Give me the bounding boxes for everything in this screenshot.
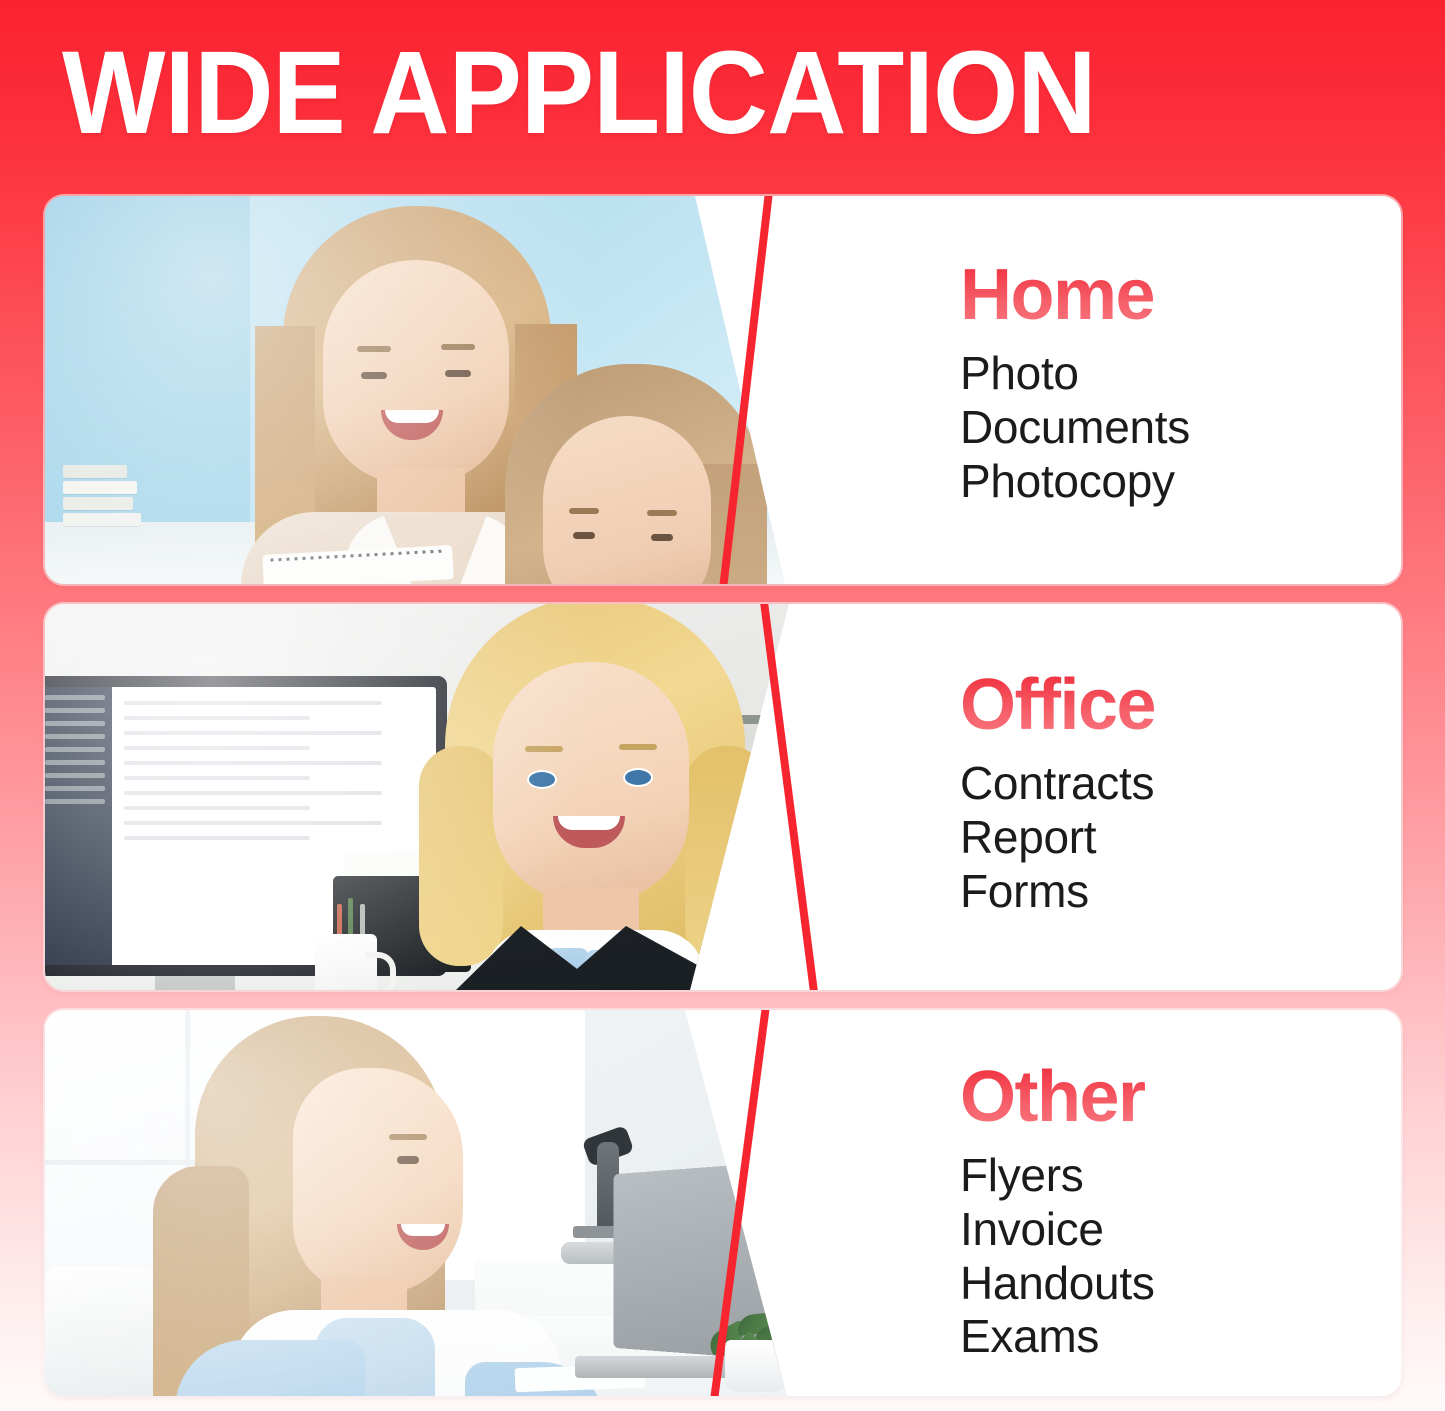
test-tubes — [787, 1260, 805, 1380]
woman-eye — [397, 1156, 419, 1164]
child-brow-right — [647, 510, 677, 516]
woman-brow — [389, 1134, 427, 1140]
text-block-other: Other Flyers Invoice Handouts Exams — [960, 1060, 1155, 1364]
child-face — [543, 416, 711, 584]
adult-brow-right — [441, 344, 475, 350]
adult-brow-left — [357, 346, 391, 352]
poster-root: WIDE APPLICATION — [0, 0, 1445, 1411]
book-stack-icon — [63, 448, 141, 526]
list-item: Exams — [960, 1310, 1155, 1364]
list-item: Handouts — [960, 1257, 1155, 1311]
woman-brow-right — [619, 744, 657, 750]
application-card-home — [45, 196, 1401, 584]
page-title: WIDE APPLICATION — [62, 34, 1096, 152]
woman-face — [493, 662, 689, 902]
photo-other — [45, 1010, 805, 1396]
woman-eye-left — [529, 772, 555, 787]
woman-eye-right — [625, 770, 651, 785]
application-card-office — [45, 604, 1401, 990]
list-item: Flyers — [960, 1149, 1155, 1203]
feature-list-other: Flyers Invoice Handouts Exams — [960, 1149, 1155, 1364]
list-item: Documents — [960, 401, 1190, 455]
feature-list-home: Photo Documents Photocopy — [960, 347, 1190, 508]
list-item: Photo — [960, 347, 1190, 401]
adult-eye-right — [445, 370, 471, 377]
feature-list-office: Contracts Report Forms — [960, 757, 1155, 918]
adult-eye-left — [361, 372, 387, 379]
adult-face — [323, 260, 509, 484]
scene-home-tutoring — [45, 196, 805, 584]
scene-laboratory — [45, 1010, 805, 1396]
monitor-stand — [155, 976, 235, 990]
lab-chair — [45, 1266, 165, 1396]
card-heading-other: Other — [960, 1060, 1155, 1135]
child-eye-left — [573, 532, 595, 539]
plant-pot — [725, 1340, 787, 1392]
list-item: Report — [960, 811, 1155, 865]
list-item: Photocopy — [960, 455, 1190, 509]
woman-face-profile — [293, 1068, 463, 1294]
photo-home — [45, 196, 805, 584]
coffee-mug — [315, 934, 377, 990]
text-block-office: Office Contracts Report Forms — [960, 668, 1155, 918]
card-heading-home: Home — [960, 258, 1190, 333]
pencil-cup-icon — [333, 904, 379, 938]
child-brow-left — [569, 508, 599, 514]
list-item: Contracts — [960, 757, 1155, 811]
list-item: Invoice — [960, 1203, 1155, 1257]
card-heading-office: Office — [960, 668, 1155, 743]
scene-office-desk — [45, 604, 805, 990]
woman-brow-left — [525, 746, 563, 752]
list-item: Forms — [960, 865, 1155, 919]
photo-office — [45, 604, 805, 990]
application-card-other — [45, 1010, 1401, 1396]
child-eye-right — [651, 534, 673, 541]
text-block-home: Home Photo Documents Photocopy — [960, 258, 1190, 508]
screen-sidebar — [45, 687, 112, 965]
